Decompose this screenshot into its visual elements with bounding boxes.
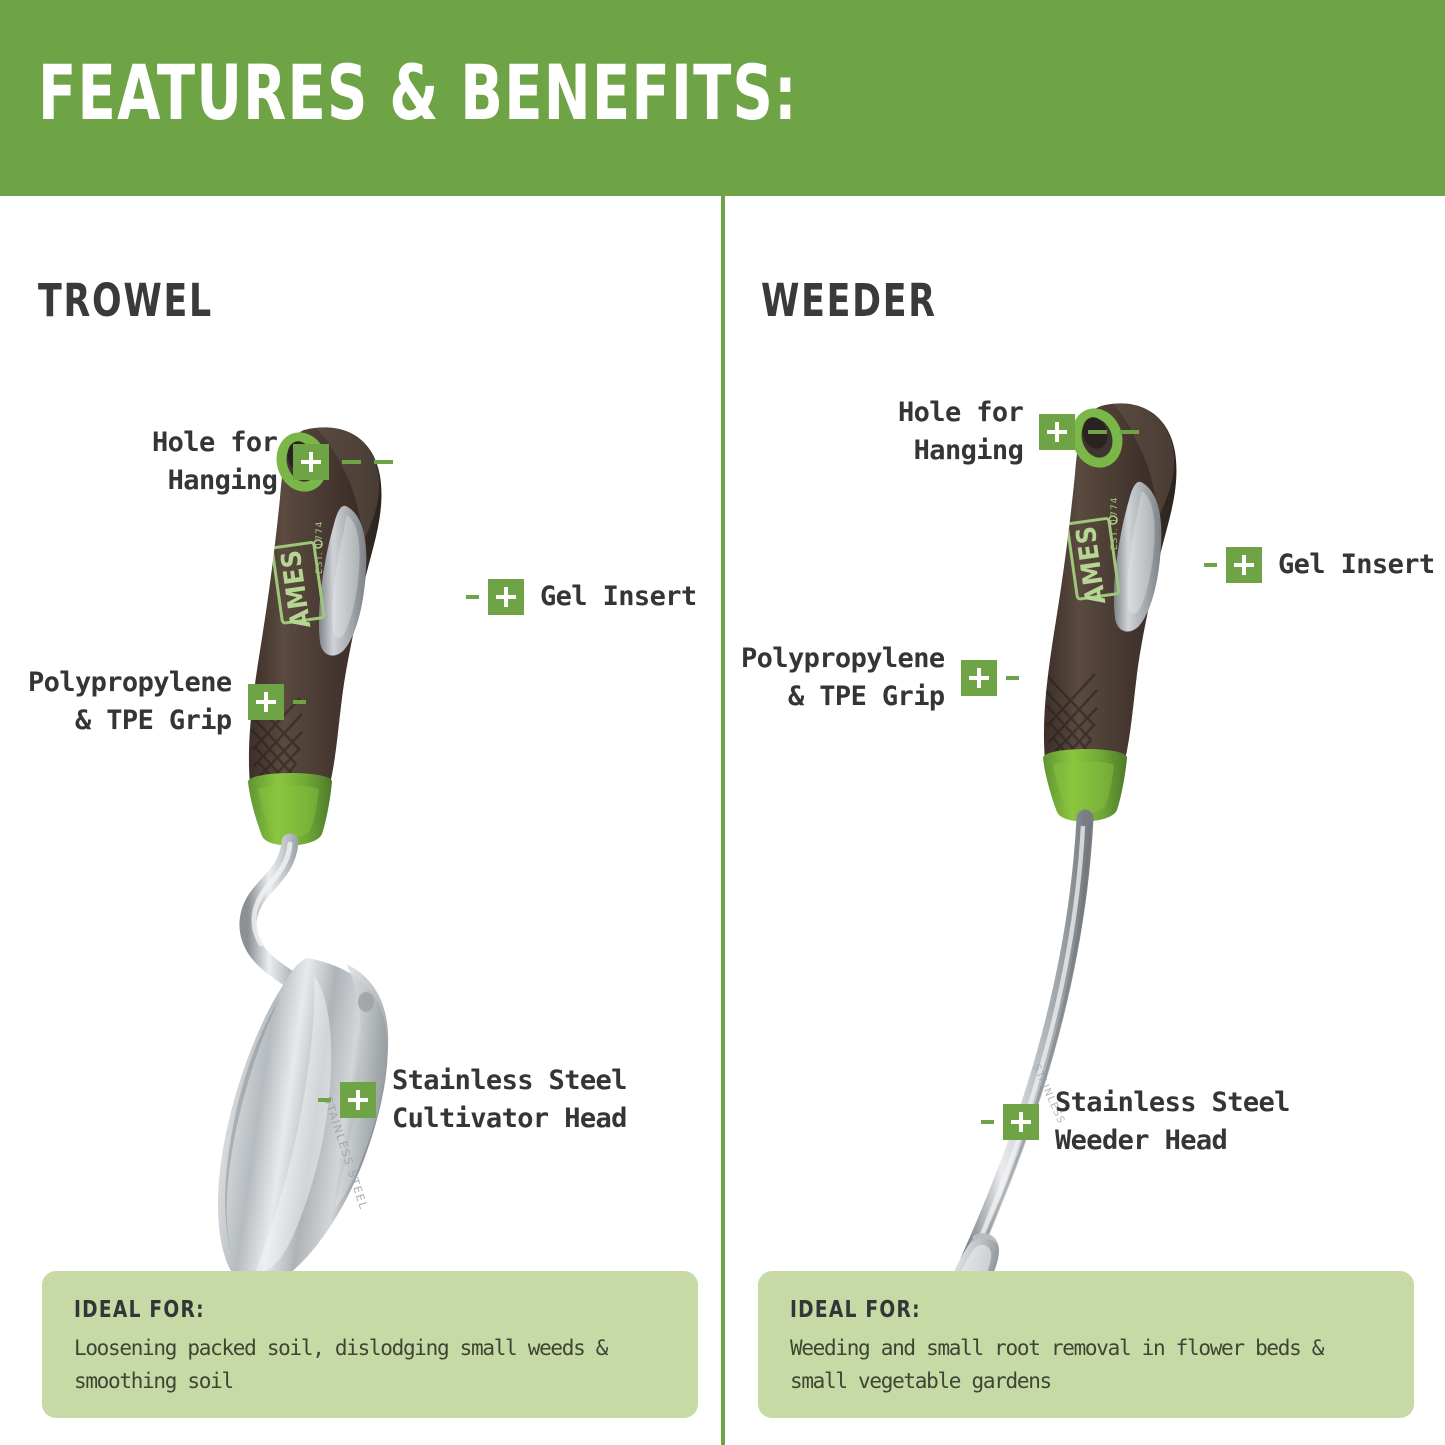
leader-dash xyxy=(293,700,306,704)
leader-dash xyxy=(1120,430,1139,434)
ames-logo: AMES EST. 1774 xyxy=(1067,497,1120,607)
plus-icon[interactable] xyxy=(488,579,524,615)
header-band: FEATURES & BENEFITS: xyxy=(0,0,1445,196)
gel-insert-strip xyxy=(319,506,366,656)
ferrule-collar xyxy=(248,773,332,846)
plus-icon[interactable] xyxy=(961,660,997,696)
plus-icon[interactable] xyxy=(293,444,329,480)
plus-icon[interactable] xyxy=(1039,414,1075,450)
ideal-for-body: Loosening packed soil, dislodging small … xyxy=(74,1332,668,1397)
callout-label: Polypropylene & TPE Grip xyxy=(741,640,945,717)
plus-icon[interactable] xyxy=(1003,1104,1039,1140)
infographic-page: FEATURES & BENEFITS: TROWEL xyxy=(0,0,1445,1445)
plus-icon[interactable] xyxy=(1226,547,1262,583)
leader-dash xyxy=(342,460,361,464)
leader-dash xyxy=(318,1098,331,1102)
leader-dash xyxy=(466,595,479,599)
grip-texture xyxy=(1045,674,1097,786)
callout-label: Gel Insert xyxy=(540,578,697,616)
ideal-for-box-weeder: IDEAL FOR: Weeding and small root remova… xyxy=(758,1271,1414,1418)
callout-label: Hole for Hanging xyxy=(898,394,1023,471)
svg-text:EST. 1774: EST. 1774 xyxy=(315,521,325,574)
callout-hole-for-hanging: Hole for Hanging xyxy=(898,394,1139,471)
gel-insert-strip xyxy=(1114,482,1161,632)
callout-label: Stainless Steel Cultivator Head xyxy=(392,1062,627,1139)
leader-dash xyxy=(981,1120,994,1124)
callout-polypropylene-tpe-grip: Polypropylene & TPE Grip xyxy=(28,664,306,741)
callout-label: Hole for Hanging xyxy=(152,424,277,501)
page-title: FEATURES & BENEFITS: xyxy=(38,55,798,131)
callout-gel-insert: Gel Insert xyxy=(1204,546,1435,584)
ferrule-collar xyxy=(1043,749,1127,822)
panel-weeder: WEEDER xyxy=(723,196,1445,1445)
weeder-product-image: AMES EST. 1774 xyxy=(883,376,1283,1386)
leader-dash xyxy=(1006,676,1019,680)
svg-text:AMES: AMES xyxy=(276,548,318,631)
callout-label: Stainless Steel Weeder Head xyxy=(1055,1084,1290,1161)
ideal-for-heading: IDEAL FOR: xyxy=(74,1297,609,1323)
trowel-product-image: AMES EST. 1774 xyxy=(196,398,526,1358)
svg-text:AMES: AMES xyxy=(1071,524,1113,607)
leader-dash xyxy=(1204,563,1217,567)
ames-logo: AMES EST. 1774 xyxy=(272,521,325,631)
leader-dash xyxy=(374,460,393,464)
weeder-shaft xyxy=(969,818,1085,1260)
panel-title-weeder: WEEDER xyxy=(761,274,937,327)
callout-label: Polypropylene & TPE Grip xyxy=(28,664,232,741)
ideal-for-body: Weeding and small root removal in flower… xyxy=(790,1332,1384,1397)
plus-icon[interactable] xyxy=(340,1082,376,1118)
ideal-for-box-trowel: IDEAL FOR: Loosening packed soil, dislod… xyxy=(42,1271,698,1418)
callout-label: Gel Insert xyxy=(1278,546,1435,584)
leader-dash xyxy=(1088,430,1107,434)
callout-polypropylene-tpe-grip: Polypropylene & TPE Grip xyxy=(741,640,1019,717)
panel-trowel: TROWEL xyxy=(0,196,722,1445)
ideal-for-heading: IDEAL FOR: xyxy=(790,1297,1325,1323)
callout-stainless-steel-cultivator-head: Stainless Steel Cultivator Head xyxy=(318,1062,627,1139)
svg-text:EST. 1774: EST. 1774 xyxy=(1110,497,1120,550)
callout-stainless-steel-weeder-head: Stainless Steel Weeder Head xyxy=(981,1084,1290,1161)
panel-title-trowel: TROWEL xyxy=(38,274,213,327)
callout-gel-insert: Gel Insert xyxy=(466,578,697,616)
callout-hole-for-hanging: Hole for Hanging xyxy=(152,424,393,501)
plus-icon[interactable] xyxy=(248,684,284,720)
